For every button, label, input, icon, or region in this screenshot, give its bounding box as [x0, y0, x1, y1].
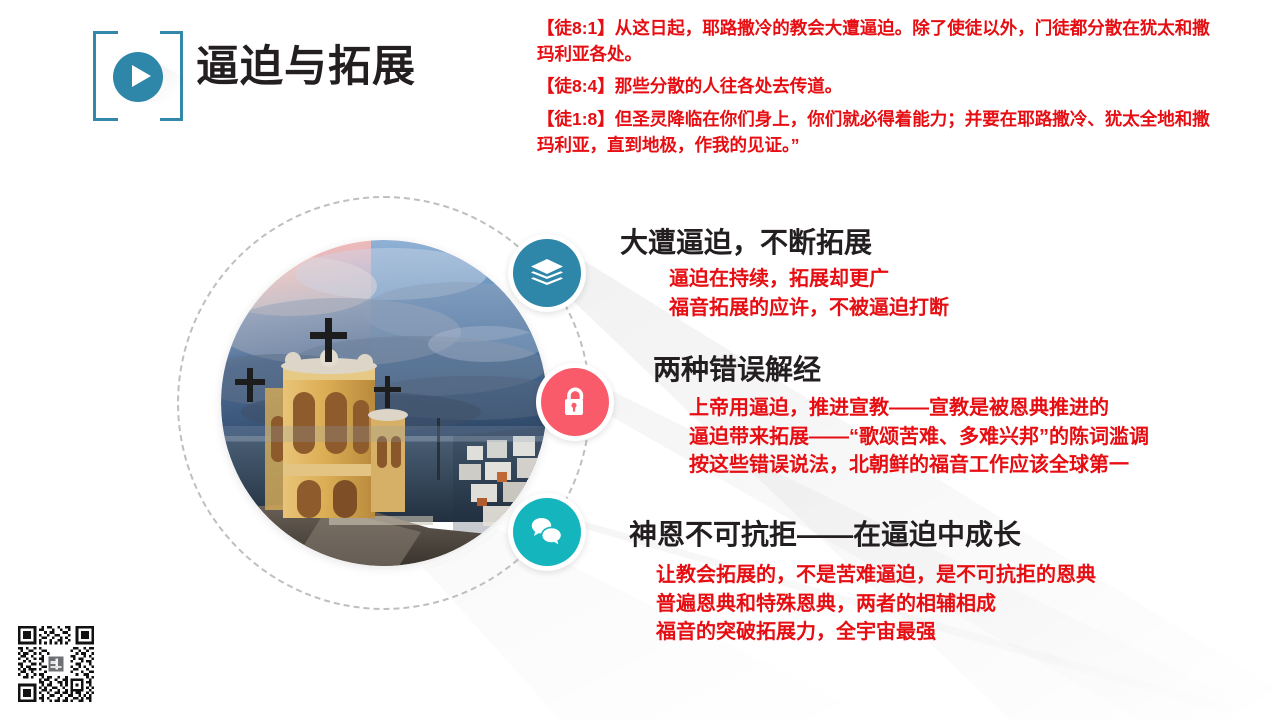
- icon-disc: [513, 239, 581, 307]
- section-lines-3: 让教会拓展的，不是苦难逼迫，是不可抗拒的恩典 普遍恩典和特殊恩典，两者的相辅相成…: [656, 561, 1096, 646]
- logo-frame-gap-top: [118, 25, 160, 39]
- section-line: 上帝用逼迫，推进宣教——宣教是被恩典推进的: [689, 394, 1149, 422]
- layers-icon: [530, 258, 564, 288]
- section-lines-2: 上帝用逼迫，推进宣教——宣教是被恩典推进的 逼迫带来拓展——“歌颂苦难、多难兴邦…: [689, 394, 1149, 479]
- chat-bubbles-icon: [530, 516, 564, 548]
- icon-disc: [513, 498, 581, 566]
- scripture-line: 【徒8:1】从这日起，耶路撒冷的教会大遭逼迫。除了使徒以外，门徒都分散在犹太和撒…: [537, 16, 1227, 67]
- unlock-icon: [560, 385, 590, 419]
- scripture-line: 【徒1:8】但圣灵降临在你们身上，你们就必得着能力；并要在耶路撒冷、犹太全地和撒…: [537, 107, 1227, 158]
- section-title-3: 神恩不可抗拒——在逼迫中成长: [629, 519, 1096, 550]
- icon-disc: [541, 368, 609, 436]
- section-line: 逼迫在持续，拓展却更广: [669, 265, 949, 293]
- play-triangle-icon: [132, 65, 151, 87]
- section-title-1: 大遭逼迫，不断拓展: [620, 227, 949, 258]
- slide-canvas: 逼迫与拓展 【徒8:1】从这日起，耶路撒冷的教会大遭逼迫。除了使徒以外，门徒都分…: [0, 0, 1280, 720]
- section-block-2: 两种错误解经 上帝用逼迫，推进宣教——宣教是被恩典推进的 逼迫带来拓展——“歌颂…: [653, 354, 1149, 480]
- qr-code[interactable]: [18, 626, 94, 702]
- section-line: 逼迫带来拓展——“歌颂苦难、多难兴邦”的陈词滥调: [689, 423, 1149, 451]
- header: 逼迫与拓展: [0, 0, 520, 150]
- section-title-2: 两种错误解经: [653, 354, 1149, 385]
- section-line: 按这些错误说法，北朝鲜的福音工作应该全球第一: [689, 451, 1149, 479]
- section-line: 让教会拓展的，不是苦难逼迫，是不可抗拒的恩典: [656, 561, 1096, 589]
- scripture-block: 【徒8:1】从这日起，耶路撒冷的教会大遭逼迫。除了使徒以外，门徒都分散在犹太和撒…: [537, 16, 1227, 159]
- page-title: 逼迫与拓展: [196, 46, 416, 89]
- logo-frame-gap-bottom: [118, 113, 160, 127]
- section-line: 福音拓展的应许，不被逼迫打断: [669, 294, 949, 322]
- section-lines-1: 逼迫在持续，拓展却更广 福音拓展的应许，不被逼迫打断: [669, 265, 949, 322]
- section-line: 普遍恩典和特殊恩典，两者的相辅相成: [656, 590, 1096, 618]
- section-block-3: 神恩不可抗拒——在逼迫中成长 让教会拓展的，不是苦难逼迫，是不可抗拒的恩典 普遍…: [629, 519, 1096, 647]
- scripture-line: 【徒8:4】那些分散的人往各处去传道。: [537, 74, 1227, 100]
- section-block-1: 大遭逼迫，不断拓展 逼迫在持续，拓展却更广 福音拓展的应许，不被逼迫打断: [620, 227, 949, 322]
- feature-photo: [221, 240, 547, 566]
- section-line: 福音的突破拓展力，全宇宙最强: [656, 618, 1096, 646]
